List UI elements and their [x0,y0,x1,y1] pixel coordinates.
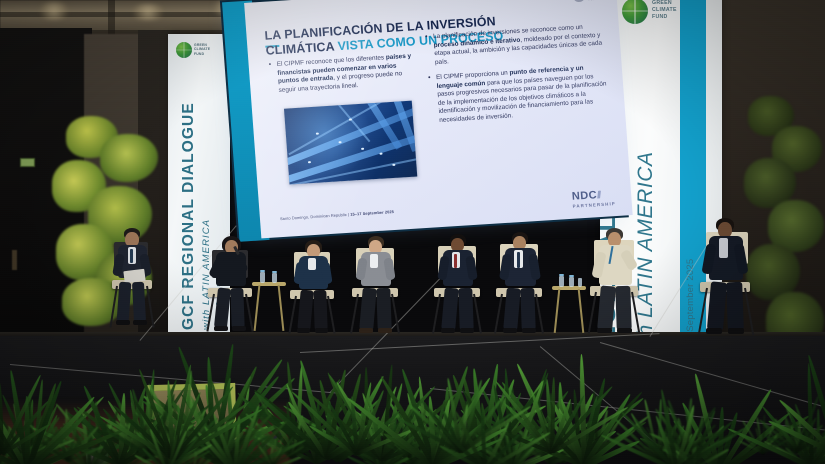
slide-surface: GREENCLIMATEFUND LA PLANIFICACIÓN DE LA … [244,0,633,238]
green-climate-fund-globe-icon [622,0,648,24]
panelist-5 [496,234,550,340]
slide-footer-date: 15–17 September 2025 [350,209,394,217]
banner-left-logo-text: GREENCLIMATEFUND [194,43,210,56]
ceiling-light [128,4,168,20]
slide-bullet: El CIPMF reconoce que los diferentes paí… [268,52,420,95]
banner-left-title: GCF REGIONAL DIALOGUE [180,102,198,330]
water-bottle [272,273,277,283]
water-bottle [559,276,564,287]
ndc-logo-name: NDC [571,189,597,203]
side-table [252,268,288,332]
conference-stage-photo: GREENCLIMATEFUND GCF REGIONAL DIALOGUE w… [0,0,825,464]
drinking-glass [86,448,108,464]
projection-screen: GREENCLIMATEFUND LA PLANIFICACIÓN DE LA … [228,0,621,237]
slide-footer: Santo Domingo, Dominican Republic | 15–1… [280,209,394,221]
panelist-4 [434,236,488,340]
green-climate-fund-globe-icon [176,42,192,58]
panelist-7-far-right [700,218,758,340]
banner-right-logo-text: GREENCLIMATEFUND [652,0,677,20]
slide-illustration-highway-network [284,101,417,185]
exit-sign [20,158,35,167]
side-table [552,272,588,334]
water-bottle-foreground [222,432,235,458]
slide-footer-location: Santo Domingo, Dominican Republic [280,212,347,221]
panelist-6-light-shirt [590,230,646,340]
ceiling-light [36,2,72,20]
drinking-glass [16,444,36,462]
water-bottle [569,277,574,287]
slide-gcf-logo: GREENCLIMATEFUND [572,0,603,2]
panelist-3 [352,238,406,340]
panelist-2 [290,242,342,340]
water-bottle [578,278,582,287]
slide-bullet: El CIPMF proporciona un punto de referen… [428,63,611,125]
foreground-soil [0,400,290,464]
water-bottle [260,272,265,283]
panelist-moderator-left [112,228,162,336]
ndc-logo-slashes: /// [597,191,600,201]
ndc-partnership-logo: NDC/// PARTNERSHIP [572,189,616,209]
door-handle [12,250,17,270]
slide-column-right: La planificación de inversiones se recon… [425,22,612,132]
slide-column-left: El CIPMF reconoce que los diferentes paí… [268,52,421,102]
